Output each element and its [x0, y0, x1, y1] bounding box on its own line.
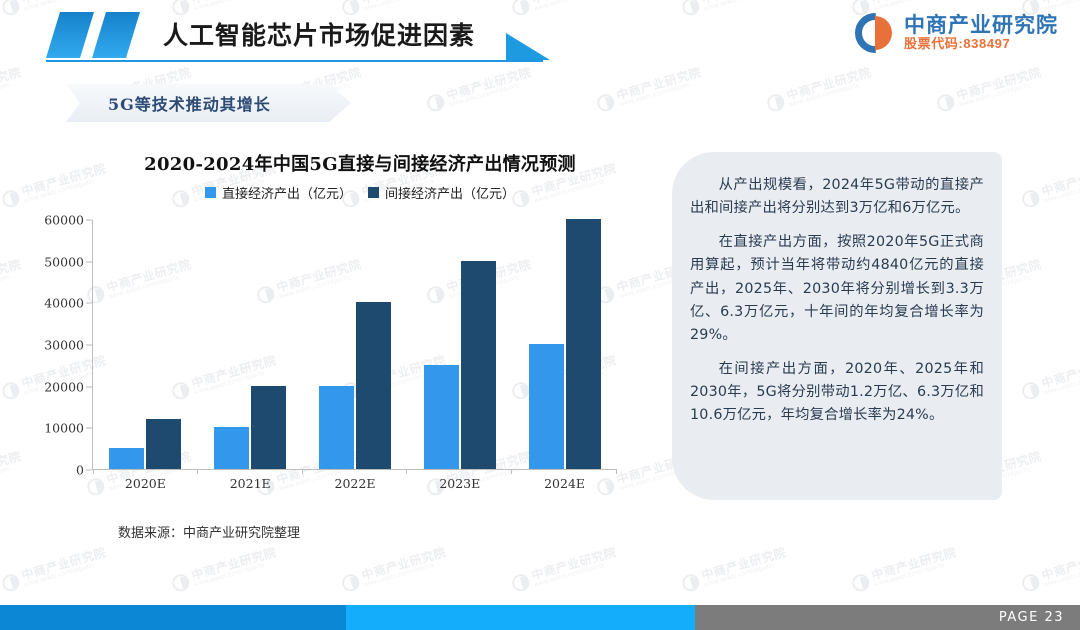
chart-plot-area: 0100002000030000400005000060000 2020E202…	[30, 220, 650, 470]
analysis-text-panel: 从产出规模看，2024年5G带动的直接产出和间接产出将分别达到3万亿和6万亿元。…	[672, 152, 1002, 500]
watermark-company: 中商产业研究院	[1040, 546, 1080, 582]
chart-legend: 直接经济产出（亿元） 间接经济产出（亿元）	[30, 183, 650, 202]
watermark-logo-icon	[0, 380, 21, 401]
watermark-url: www.askci.com/reports	[789, 78, 875, 109]
bar-direct-output	[424, 365, 459, 469]
header-stripe-decoration	[46, 12, 154, 58]
bar-indirect-output	[146, 419, 181, 469]
watermark-company: 中商产业研究院	[530, 546, 618, 582]
x-axis-tick-label: 2020E	[93, 476, 198, 491]
legend-item-indirect: 间接经济产出（亿元）	[368, 183, 515, 202]
watermark-url: www.askci.com/reports	[534, 558, 620, 589]
bar-group	[303, 220, 408, 469]
bar-direct-output	[319, 386, 354, 469]
legend-swatch-direct	[205, 187, 216, 198]
page-number-label: PAGE 23	[999, 610, 1064, 625]
watermark-company: 中商产业研究院	[1040, 162, 1080, 198]
watermark-company: 中商产业研究院	[0, 450, 23, 486]
footer-segment-b	[346, 605, 695, 630]
logo-company-name: 中商产业研究院	[904, 14, 1058, 38]
watermark-company: 中商产业研究院	[870, 546, 958, 582]
watermark-tile: 中商产业研究院www.askci.com/reports	[1020, 162, 1080, 211]
watermark-url: www.askci.com/reports	[0, 270, 25, 301]
y-axis-tick-label: 60000	[44, 213, 84, 228]
x-axis-tick-label: 2024E	[512, 476, 617, 491]
watermark-url: www.askci.com/reports	[364, 558, 450, 589]
watermark-tile: 中商产业研究院www.askci.com/reports	[0, 258, 25, 307]
x-axis-tick-mark	[93, 469, 94, 474]
triangle-right-icon	[506, 33, 550, 60]
watermark-url: www.askci.com/reports	[619, 78, 705, 109]
watermark-logo-icon	[680, 572, 701, 593]
zhongshang-circle-logo-icon	[855, 13, 895, 53]
section-banner: 5G等技术推动其增长	[66, 84, 351, 122]
footer-segment-c: PAGE 23	[695, 605, 1080, 630]
x-axis-tick-mark	[616, 469, 617, 474]
bar-direct-output	[214, 427, 249, 469]
y-axis: 0100002000030000400005000060000	[30, 220, 92, 470]
watermark-url: www.askci.com/reports	[959, 78, 1045, 109]
watermark-logo-icon	[765, 92, 786, 113]
watermark-tile: 中商产业研究院www.askci.com/reports	[340, 546, 450, 595]
watermark-tile: 中商产业研究院www.askci.com/reports	[935, 66, 1045, 115]
watermark-company: 中商产业研究院	[360, 546, 448, 582]
x-axis-tick-mark	[511, 469, 512, 474]
watermark-url: www.askci.com/reports	[24, 558, 110, 589]
bar-indirect-output	[356, 302, 391, 469]
y-axis-tick-label: 0	[76, 463, 84, 478]
watermark-logo-icon	[850, 572, 871, 593]
chart-title: 2020-2024年中国5G直接与间接经济产出情况预测	[30, 150, 650, 176]
y-axis-tick-label: 20000	[44, 379, 84, 394]
analysis-paragraph: 在直接产出方面，按照2020年5G正式商用算起，预计当年将带动约4840亿元的直…	[690, 231, 984, 347]
watermark-logo-icon	[595, 92, 616, 113]
watermark-tile: 中商产业研究院www.askci.com/reports	[170, 546, 280, 595]
x-axis-tick-mark	[197, 469, 198, 474]
bar-indirect-output	[461, 261, 496, 469]
watermark-tile: 中商产业研究院www.askci.com/reports	[1020, 546, 1080, 595]
watermark-tile: 中商产业研究院www.askci.com/reports	[850, 546, 960, 595]
bar-indirect-output	[251, 386, 286, 469]
watermark-tile: 中商产业研究院www.askci.com/reports	[595, 66, 705, 115]
bar-series-container	[93, 220, 617, 469]
watermark-tile: 中商产业研究院www.askci.com/reports	[1020, 354, 1080, 403]
watermark-logo-icon	[1020, 188, 1041, 209]
company-logo: 中商产业研究院 股票代码:838497	[855, 13, 1058, 53]
analysis-paragraph: 在间接产出方面，2020年、2025年和2030年，5G将分别带动1.2万亿、6…	[690, 358, 984, 427]
watermark-logo-icon	[1020, 572, 1041, 593]
watermark-url: www.askci.com/reports	[874, 558, 960, 589]
watermark-logo-icon	[935, 92, 956, 113]
watermark-url: www.askci.com/reports	[1044, 174, 1080, 205]
watermark-url: www.askci.com/reports	[1044, 558, 1080, 589]
watermark-tile: 中商产业研究院www.askci.com/reports	[0, 450, 25, 499]
watermark-logo-icon	[1020, 380, 1041, 401]
bar-indirect-output	[566, 219, 601, 469]
watermark-url: www.askci.com/reports	[194, 558, 280, 589]
legend-label-indirect: 间接经济产出（亿元）	[385, 183, 515, 202]
watermark-url: www.askci.com/reports	[704, 558, 790, 589]
header-underline	[46, 60, 543, 62]
watermark-url: www.askci.com/reports	[449, 78, 535, 109]
watermark-logo-icon	[510, 572, 531, 593]
x-axis-tick-mark	[302, 469, 303, 474]
watermark-tile: 中商产业研究院www.askci.com/reports	[0, 66, 25, 115]
watermark-tile: 中商产业研究院www.askci.com/reports	[425, 66, 535, 115]
bar-direct-output	[109, 448, 144, 469]
x-axis-tick-label: 2022E	[303, 476, 408, 491]
watermark-company: 中商产业研究院	[1040, 354, 1080, 390]
watermark-logo-icon	[0, 188, 21, 209]
legend-swatch-indirect	[368, 187, 379, 198]
slide-root: 中商产业研究院www.askci.com/reports中商产业研究院www.a…	[0, 0, 1080, 630]
bar-direct-output	[529, 344, 564, 469]
x-axis-tick-mark	[406, 469, 407, 474]
watermark-company: 中商产业研究院	[20, 546, 108, 582]
section-banner-label: 5G等技术推动其增长	[108, 91, 271, 115]
x-axis-tick-label: 2023E	[407, 476, 512, 491]
slide-header: 人工智能芯片市场促进因素 中商产业研究院 股票代码:838497	[0, 0, 1080, 72]
watermark-logo-icon	[340, 572, 361, 593]
watermark-company: 中商产业研究院	[0, 258, 23, 294]
watermark-company: 中商产业研究院	[190, 546, 278, 582]
watermark-url: www.askci.com/reports	[0, 462, 25, 493]
x-axis-line	[92, 469, 617, 470]
watermark-tile: 中商产业研究院www.askci.com/reports	[680, 546, 790, 595]
watermark-logo-icon	[425, 92, 446, 113]
y-axis-tick-label: 30000	[44, 338, 84, 353]
watermark-url: www.askci.com/reports	[0, 78, 25, 109]
watermark-url: www.askci.com/reports	[1044, 366, 1080, 397]
footer-segment-a	[0, 605, 346, 630]
y-axis-tick-label: 40000	[44, 296, 84, 311]
slide-footer: PAGE 23	[0, 605, 1080, 630]
bar-group	[512, 220, 617, 469]
bar-group	[407, 220, 512, 469]
watermark-tile: 中商产业研究院www.askci.com/reports	[0, 546, 110, 595]
legend-item-direct: 直接经济产出（亿元）	[205, 183, 352, 202]
bar-group	[93, 220, 198, 469]
watermark-logo-icon	[170, 572, 191, 593]
page-title: 人工智能芯片市场促进因素	[163, 16, 475, 52]
watermark-logo-icon	[0, 572, 21, 593]
x-axis-labels: 2020E2021E2022E2023E2024E	[93, 476, 617, 491]
watermark-tile: 中商产业研究院www.askci.com/reports	[765, 66, 875, 115]
watermark-tile: 中商产业研究院www.askci.com/reports	[510, 546, 620, 595]
bar-chart: 2020-2024年中国5G直接与间接经济产出情况预测 直接经济产出（亿元） 间…	[30, 150, 650, 550]
analysis-paragraph: 从产出规模看，2024年5G带动的直接产出和间接产出将分别达到3万亿和6万亿元。	[690, 174, 984, 220]
bar-group	[198, 220, 303, 469]
watermark-company: 中商产业研究院	[700, 546, 788, 582]
y-axis-tick-label: 50000	[44, 254, 84, 269]
chart-source-note: 数据来源：中商产业研究院整理	[118, 522, 300, 541]
logo-stock-code: 股票代码:838497	[904, 37, 1058, 52]
y-axis-tick-label: 10000	[44, 421, 84, 436]
x-axis-tick-label: 2021E	[198, 476, 303, 491]
legend-label-direct: 直接经济产出（亿元）	[222, 183, 352, 202]
